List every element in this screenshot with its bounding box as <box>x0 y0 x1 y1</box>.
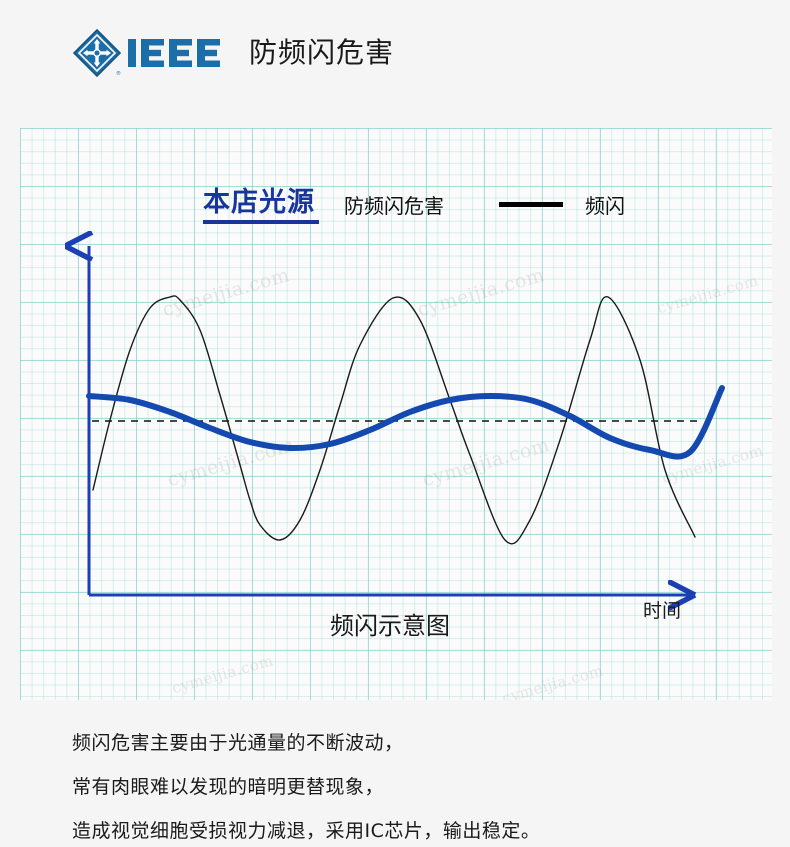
page-title: 防频闪危害 <box>249 31 394 71</box>
description-line-3: 造成视觉细胞受损视力减退，采用IC芯片，输出稳定。 <box>72 816 540 843</box>
description-line-2: 常有肉眼难以发现的暗明更替现象， <box>72 772 384 799</box>
page-header: ® <box>0 0 790 110</box>
x-axis-label: 时间 <box>643 596 681 623</box>
svg-text:®: ® <box>116 70 121 77</box>
ieee-logo: ® <box>72 28 222 78</box>
ieee-diamond-icon: ® <box>74 30 121 77</box>
chart-panel: cymeijia.comcymeijia.comcymeijia.comcyme… <box>20 128 772 700</box>
ieee-wordmark <box>128 39 220 67</box>
chart-caption: 频闪示意图 <box>330 606 450 641</box>
description-line-1: 频闪危害主要由于光通量的不断波动， <box>72 728 404 755</box>
series-brand-curve <box>89 388 722 457</box>
